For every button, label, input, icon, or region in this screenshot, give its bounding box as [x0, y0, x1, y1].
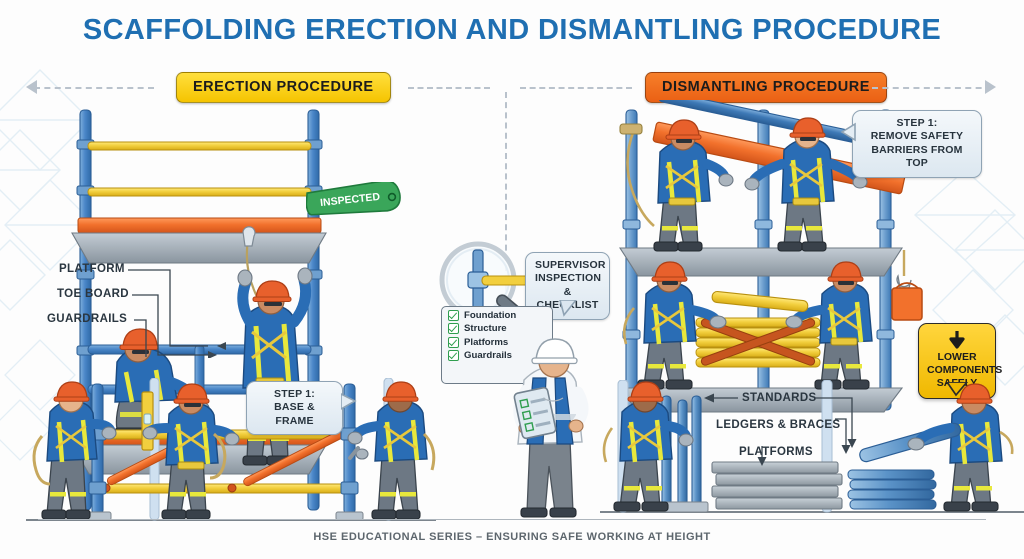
callout-dismantling-step1-tail	[840, 122, 856, 149]
infographic-canvas: SCAFFOLDING ERECTION AND DISMANTLING PRO…	[0, 0, 1024, 559]
erection-leader-lines	[120, 258, 250, 363]
base-frame-illustration	[26, 378, 436, 533]
worker-dismantle-mid-right	[786, 262, 872, 389]
callout-erection-step1-line1: STEP 1:	[256, 388, 333, 401]
header-dash-2	[408, 87, 490, 89]
checkbox-checked-icon[interactable]	[448, 337, 459, 348]
header-dash-4	[872, 87, 992, 89]
label-guardrails: GUARDRAILS	[47, 313, 127, 325]
checklist-item-label: Foundation	[464, 310, 516, 321]
callout-erection-step1: STEP 1: BASE & FRAME	[246, 381, 343, 435]
callout-dismantling-step1-line2: REMOVE SAFETY	[862, 130, 972, 143]
checkbox-checked-icon[interactable]	[448, 323, 459, 334]
callout-dismantling-step1-line1: STEP 1:	[862, 117, 972, 130]
header-arrow-right-icon	[985, 80, 996, 94]
callout-erection-step1-line2: BASE & FRAME	[256, 401, 333, 428]
label-toe-board: TOE BOARD	[57, 288, 129, 300]
footer-divider	[38, 519, 986, 520]
checklist-item[interactable]: Foundation	[448, 310, 552, 321]
checkbox-checked-icon[interactable]	[448, 350, 459, 361]
section-header-dismantling: DISMANTLING PROCEDURE	[645, 72, 887, 103]
callout-lower-line1: LOWER	[937, 351, 976, 363]
callout-supervisor-line1: SUPERVISOR	[535, 259, 600, 272]
down-arrow-icon	[948, 331, 966, 349]
callout-dismantling-step1: STEP 1: REMOVE SAFETY BARRIERS FROM TOP	[852, 110, 982, 178]
callout-dismantling-step1-line3: BARRIERS FROM TOP	[862, 144, 972, 171]
header-dash-1	[34, 87, 154, 89]
header-dash-3	[520, 87, 632, 89]
worker-base-left	[34, 382, 116, 519]
inspected-tag: INSPECTED	[306, 182, 406, 221]
callout-erection-step1-tail	[341, 392, 357, 417]
callout-supervisor-tail	[558, 300, 580, 325]
page-title: SCAFFOLDING ERECTION AND DISMANTLING PRO…	[0, 14, 1024, 47]
callout-lower-line2: COMPONENTS	[927, 364, 1002, 376]
footer-text: HSE EDUCATIONAL SERIES – ENSURING SAFE W…	[0, 531, 1024, 543]
dismantling-leader-lines	[700, 388, 880, 483]
supervisor-figure	[500, 330, 610, 525]
section-header-erection: ERECTION PROCEDURE	[176, 72, 391, 103]
worker-base-right	[348, 382, 434, 519]
checkbox-checked-icon[interactable]	[448, 310, 459, 321]
label-platform: PLATFORM	[59, 263, 125, 275]
callout-supervisor-line2: INSPECTION	[535, 272, 600, 285]
